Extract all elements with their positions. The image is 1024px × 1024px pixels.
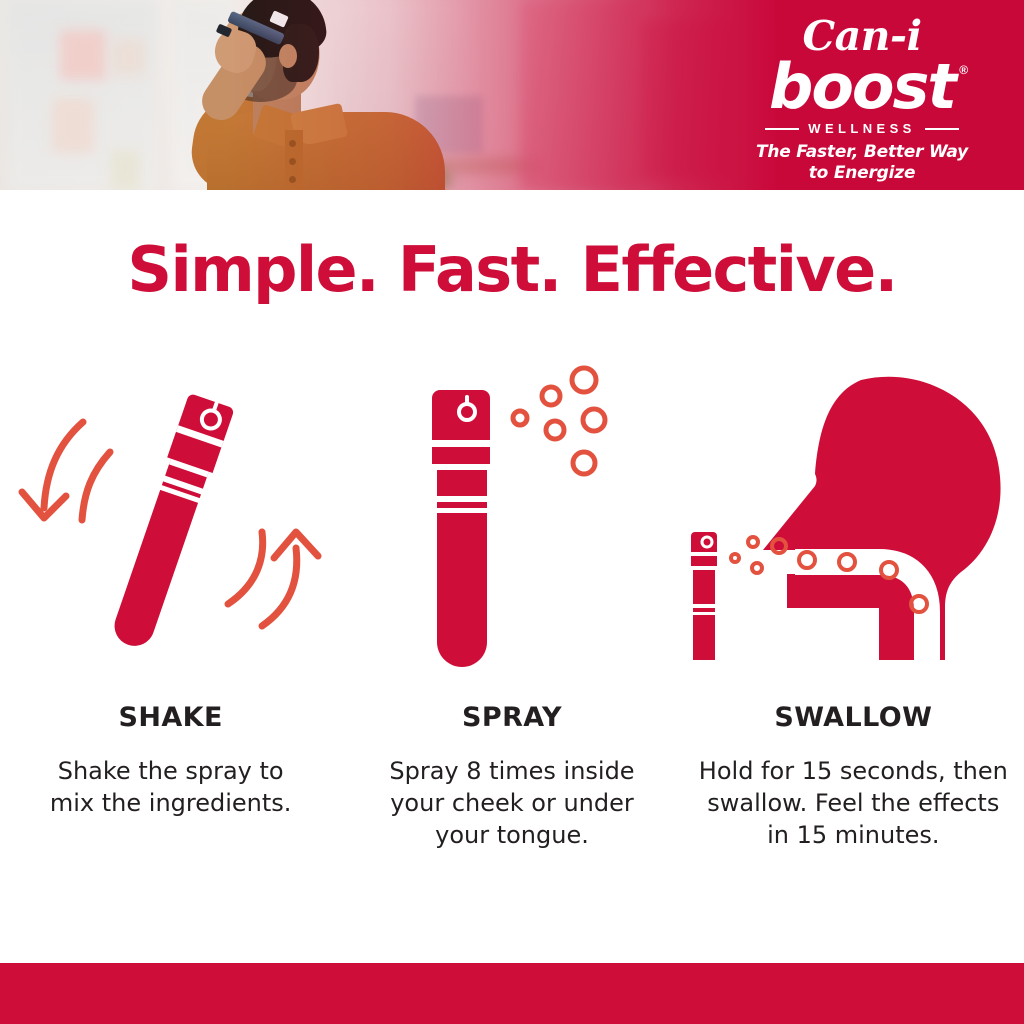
mini-spray-bottle-icon [689, 532, 719, 660]
spray-illustration [341, 360, 682, 680]
step-body-spray: Spray 8 times inside your cheek or under… [362, 755, 662, 851]
logo-divider-left [765, 128, 799, 130]
step-body-swallow: Hold for 15 seconds, then swallow. Feel … [697, 755, 1009, 851]
step-title-shake: SHAKE [119, 702, 223, 733]
logo-boost-wrap: boost ® [769, 55, 955, 118]
logo-boost-text: boost [769, 50, 955, 123]
step-shake: SHAKE Shake the spray to mix the ingredi… [0, 360, 341, 851]
logo-tagline-line1: The Faster, Better Way [746, 142, 978, 163]
header-banner: Can-i boost ® WELLNESS The Faster, Bette… [0, 0, 1024, 190]
steps-row: SHAKE Shake the spray to mix the ingredi… [0, 360, 1024, 851]
logo-tagline-line2: to Energize [746, 163, 978, 184]
step-title-spray: SPRAY [462, 702, 562, 733]
infographic-page: Can-i boost ® WELLNESS The Faster, Bette… [0, 0, 1024, 1024]
spray-bottle-spraying-icon [341, 360, 683, 680]
step-spray: SPRAY Spray 8 times inside your cheek or… [341, 360, 682, 851]
logo-divider-right [925, 128, 959, 130]
logo-wellness-text: WELLNESS [808, 121, 915, 136]
step-title-swallow: SWALLOW [774, 702, 932, 733]
spray-droplets-icon [513, 368, 605, 474]
logo-wellness-row: WELLNESS [746, 121, 978, 136]
page-headline: Simple. Fast. Effective. [0, 233, 1024, 306]
swallow-illustration [683, 360, 1024, 680]
registered-trademark-icon: ® [959, 63, 968, 77]
shake-illustration [0, 360, 341, 680]
head-swallowing-icon [683, 360, 1024, 680]
step-swallow: SWALLOW Hold for 15 seconds, then swallo… [683, 360, 1024, 851]
spray-bottle-shaking-icon [0, 360, 342, 680]
brand-logo: Can-i boost ® WELLNESS The Faster, Bette… [746, 16, 978, 184]
bottom-brand-bar [0, 963, 1024, 1024]
logo-tagline: The Faster, Better Way to Energize [746, 142, 978, 183]
step-body-shake: Shake the spray to mix the ingredients. [40, 755, 302, 819]
